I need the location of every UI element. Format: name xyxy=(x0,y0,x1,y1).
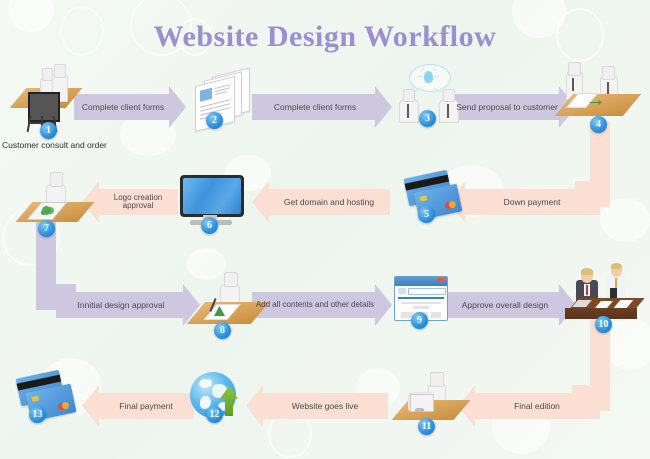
person-body xyxy=(399,99,419,123)
arrow-add-all-contents: Add all contents and other details xyxy=(252,284,392,326)
node-caption: Customer consult and order xyxy=(2,140,107,150)
person-head xyxy=(430,372,444,387)
arrow-final-payment: Final payment xyxy=(82,385,194,427)
person-head xyxy=(224,272,238,287)
node-badge: 13 xyxy=(29,406,46,423)
arrow-logo-creation-approval: Logo creation approval xyxy=(82,181,178,223)
page-title: Website Design Workflow xyxy=(0,20,650,54)
arrow-label: Final payment xyxy=(82,402,194,411)
node-badge: 9 xyxy=(411,312,428,329)
easel-board-icon xyxy=(28,92,60,122)
node-badge: 8 xyxy=(214,322,231,339)
node-website-content[interactable]: 9 xyxy=(392,276,452,332)
node-badge: 5 xyxy=(418,206,435,223)
node-proposal-brainstorm[interactable]: 3 xyxy=(396,64,460,126)
node-website-live-globe[interactable]: 12 xyxy=(188,372,252,430)
person-head xyxy=(403,89,415,102)
node-badge: 12 xyxy=(206,406,223,423)
arrow-website-goes-live: Website goes live xyxy=(246,385,388,427)
node-proposal-meeting[interactable]: 4 xyxy=(556,64,640,128)
arrow-down-payment: Down payment xyxy=(448,181,600,223)
pen-holder-icon xyxy=(610,288,617,298)
arrow-label: Final edition xyxy=(458,402,600,411)
arrow-label: Get domain and hosting xyxy=(252,198,390,207)
arrow-get-domain-hosting: Get domain and hosting xyxy=(252,181,390,223)
arrow-approve-overall-design: Approve overall design xyxy=(448,284,576,326)
node-customer-consult[interactable]: 1 Customer consult and order xyxy=(10,66,82,134)
logo-art-icon xyxy=(42,206,51,215)
node-badge: 11 xyxy=(418,418,435,435)
node-badge: 7 xyxy=(38,220,55,237)
workflow-diagram: Website Design Workflow Complete client … xyxy=(0,0,650,459)
person-head xyxy=(54,64,66,78)
node-badge: 2 xyxy=(206,112,223,129)
arrow-complete-client-forms-2: Complete client forms xyxy=(252,86,392,128)
person-head xyxy=(443,89,455,102)
node-badge: 1 xyxy=(40,122,57,139)
node-final-payment-cards[interactable]: 13 xyxy=(14,374,78,432)
monitor-icon xyxy=(180,175,244,217)
arrow-label: Add all contents and other details xyxy=(252,301,392,309)
node-logo-creation-desk[interactable]: 7 xyxy=(18,170,92,232)
arrow-label: Innitial design approval xyxy=(56,301,200,310)
person-hair xyxy=(581,268,593,275)
node-badge: 3 xyxy=(419,110,436,127)
node-client-forms[interactable]: 2 xyxy=(190,70,256,128)
node-final-edition-desk[interactable]: 11 xyxy=(394,370,468,432)
arrow-label: Logo creation approval xyxy=(82,194,178,210)
node-badge: 6 xyxy=(201,217,218,234)
arrow-initial-design-approval: Innitial design approval xyxy=(56,284,200,326)
person-head xyxy=(568,62,581,76)
person-head xyxy=(50,172,63,187)
node-approval-meeting[interactable]: 10 xyxy=(562,266,644,328)
node-domain-hosting-monitor[interactable]: 6 xyxy=(178,175,246,235)
arrow-label: Send proposal to customer xyxy=(452,103,576,112)
arrow-complete-client-forms-1: Complete client forms xyxy=(74,86,186,128)
arrow-label: Approve overall design xyxy=(448,301,576,310)
arrow-label: Complete client forms xyxy=(74,103,186,112)
person-head xyxy=(602,66,615,80)
arrow-final-edition: Final edition xyxy=(458,385,600,427)
arrow-label: Complete client forms xyxy=(252,103,392,112)
node-badge: 10 xyxy=(595,316,612,333)
node-badge: 4 xyxy=(590,116,607,133)
person-hair xyxy=(611,263,622,269)
arrow-label: Website goes live xyxy=(246,402,388,411)
arrow-label: Down payment xyxy=(448,198,600,207)
lightbulb-icon xyxy=(424,71,433,83)
